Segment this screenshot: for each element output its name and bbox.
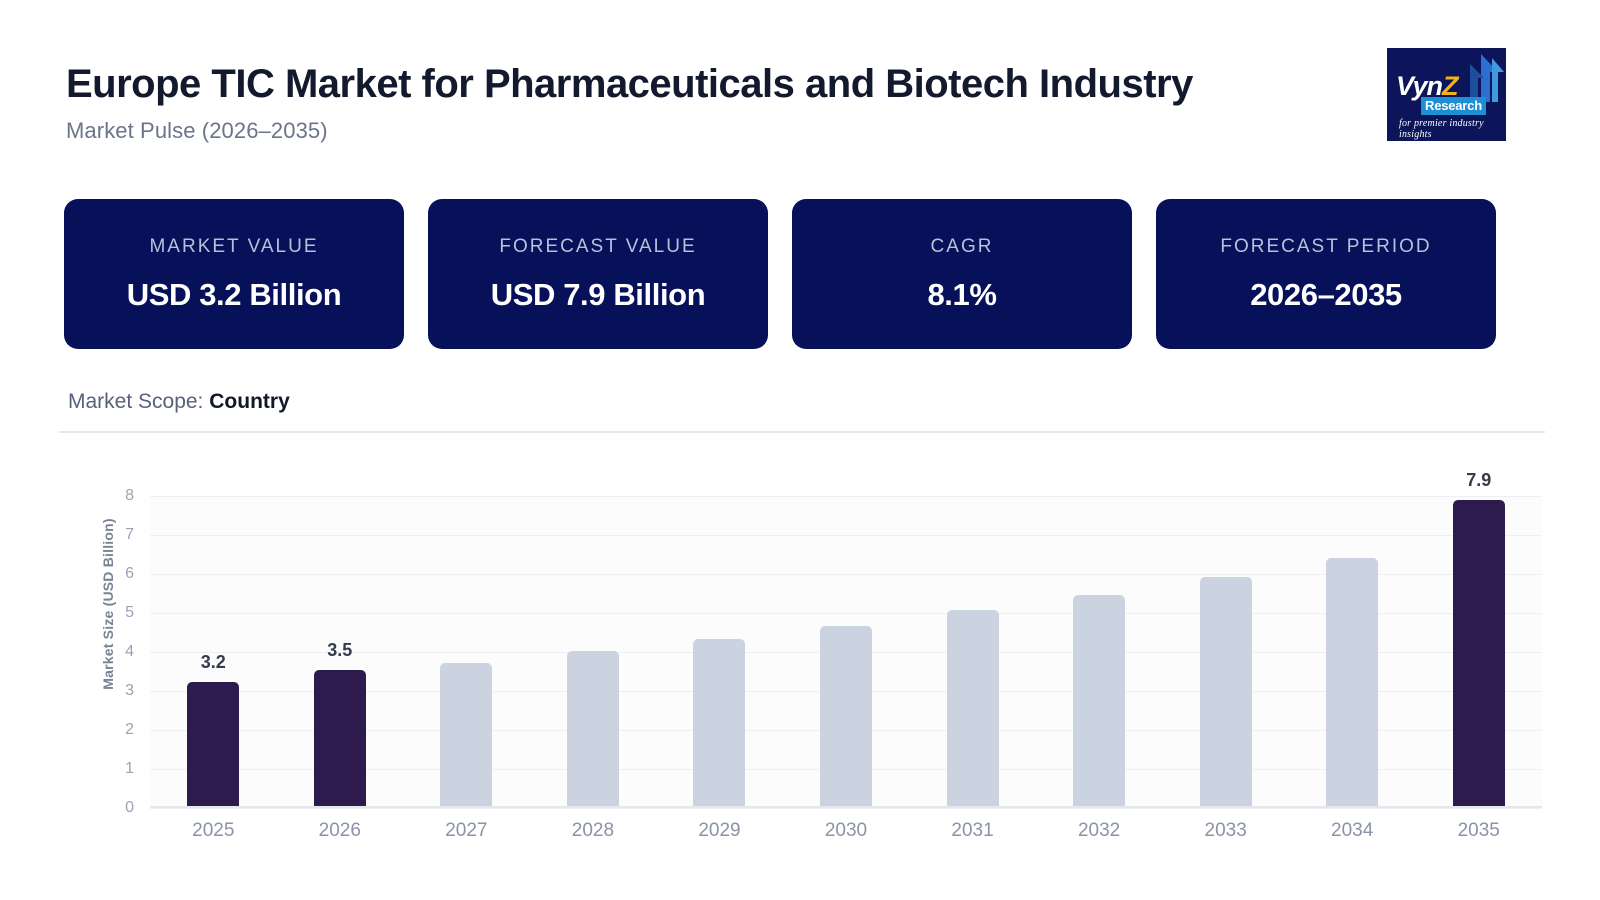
stat-card-label: FORECAST PERIOD xyxy=(1220,236,1431,258)
x-tick-label: 2025 xyxy=(150,820,277,842)
stat-card-market-value[interactable]: MARKET VALUE USD 3.2 Billion xyxy=(64,199,404,349)
bar-value-label: 7.9 xyxy=(1466,470,1491,491)
bar-value-label: 3.5 xyxy=(327,640,352,661)
y-tick-label: 3 xyxy=(104,682,134,700)
y-tick-label: 4 xyxy=(104,643,134,661)
bar-slot: 7.9 xyxy=(1415,496,1542,806)
x-tick-label: 2026 xyxy=(277,820,404,842)
market-pulse-infographic: Europe TIC Market for Pharmaceuticals an… xyxy=(0,0,1600,900)
plot-area: 012345678 3.23.57.9 xyxy=(150,496,1542,808)
bar-slot xyxy=(909,496,1036,806)
section-divider xyxy=(59,431,1545,433)
bar-2030[interactable] xyxy=(820,626,872,806)
y-tick-label: 0 xyxy=(104,799,134,817)
bar-slot: 3.2 xyxy=(150,496,277,806)
bar-2029[interactable] xyxy=(693,639,745,806)
page-subtitle: Market Pulse (2026–2035) xyxy=(66,118,1600,144)
stat-card-value: USD 3.2 Billion xyxy=(127,277,341,313)
logo-research-band: Research xyxy=(1421,97,1486,115)
bar-2025[interactable]: 3.2 xyxy=(187,682,239,806)
stat-card-value: 2026–2035 xyxy=(1250,277,1402,313)
stat-card-value: USD 7.9 Billion xyxy=(491,277,705,313)
bar-value-label: 3.2 xyxy=(201,652,226,673)
stat-card-value: 8.1% xyxy=(927,277,996,313)
y-tick-label: 5 xyxy=(104,604,134,622)
market-scope: Market Scope: Country xyxy=(68,390,290,414)
bar-slot xyxy=(530,496,657,806)
y-tick-label: 2 xyxy=(104,721,134,739)
market-scope-label: Market Scope: xyxy=(68,390,203,413)
x-tick-label: 2032 xyxy=(1036,820,1163,842)
y-tick-label: 6 xyxy=(104,565,134,583)
bar-slot: 3.5 xyxy=(277,496,404,806)
x-tick-label: 2027 xyxy=(403,820,530,842)
market-scope-value: Country xyxy=(209,390,290,413)
logo-tagline: for premier industry insights xyxy=(1399,118,1506,140)
stat-card-label: MARKET VALUE xyxy=(149,236,318,258)
stat-card-label: FORECAST VALUE xyxy=(499,236,696,258)
bar-slot xyxy=(1289,496,1416,806)
stat-card-forecast-period[interactable]: FORECAST PERIOD 2026–2035 xyxy=(1156,199,1496,349)
stat-card-cagr[interactable]: CAGR 8.1% xyxy=(792,199,1132,349)
bar-slot xyxy=(1162,496,1289,806)
page-title: Europe TIC Market for Pharmaceuticals an… xyxy=(66,62,1411,107)
bar-slot xyxy=(783,496,910,806)
bar-slot xyxy=(656,496,783,806)
gridline xyxy=(150,808,1542,809)
y-tick-label: 8 xyxy=(104,487,134,505)
stat-cards: MARKET VALUE USD 3.2 Billion FORECAST VA… xyxy=(64,199,1496,349)
bar-slot xyxy=(1036,496,1163,806)
bar-2028[interactable] xyxy=(567,651,619,806)
bar-2026[interactable]: 3.5 xyxy=(314,670,366,806)
x-tick-label: 2029 xyxy=(656,820,783,842)
header: Europe TIC Market for Pharmaceuticals an… xyxy=(66,62,1600,144)
bar-2031[interactable] xyxy=(947,610,999,806)
bar-2035[interactable]: 7.9 xyxy=(1453,500,1505,806)
market-size-bar-chart: Market Size (USD Billion) 012345678 3.23… xyxy=(60,448,1550,868)
bar-2033[interactable] xyxy=(1200,577,1252,806)
x-axis-line xyxy=(150,806,1542,808)
bar-series: 3.23.57.9 xyxy=(150,496,1542,806)
y-tick-label: 7 xyxy=(104,526,134,544)
x-tick-label: 2034 xyxy=(1289,820,1416,842)
stat-card-label: CAGR xyxy=(931,236,994,258)
x-tick-label: 2028 xyxy=(530,820,657,842)
y-tick-label: 1 xyxy=(104,760,134,778)
bar-slot xyxy=(403,496,530,806)
vynz-research-logo[interactable]: VynZ Research for premier industry insig… xyxy=(1387,48,1506,141)
x-axis-labels: 2025202620272028202920302031203220332034… xyxy=(150,820,1542,842)
bar-2034[interactable] xyxy=(1326,558,1378,806)
stat-card-forecast-value[interactable]: FORECAST VALUE USD 7.9 Billion xyxy=(428,199,768,349)
x-tick-label: 2033 xyxy=(1162,820,1289,842)
x-tick-label: 2031 xyxy=(909,820,1036,842)
x-tick-label: 2035 xyxy=(1415,820,1542,842)
x-tick-label: 2030 xyxy=(783,820,910,842)
bar-2027[interactable] xyxy=(440,663,492,806)
bar-2032[interactable] xyxy=(1073,595,1125,806)
